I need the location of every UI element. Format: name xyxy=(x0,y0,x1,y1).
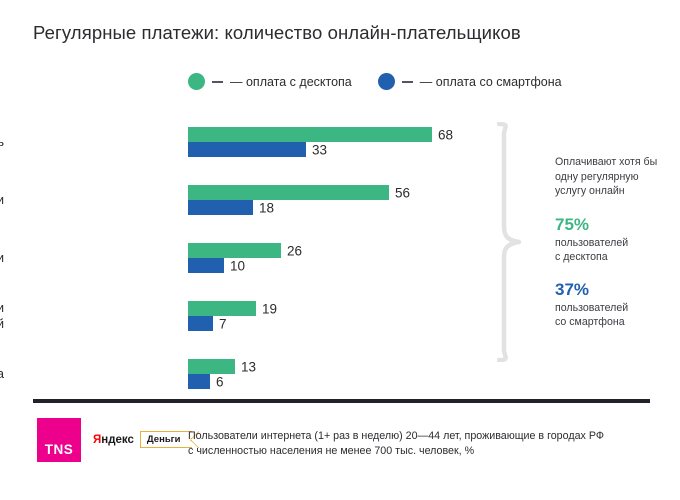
bar-smartphone xyxy=(188,374,210,389)
bar-line-desktop: 56 xyxy=(188,185,389,200)
category-label-line: Транспортная карта xyxy=(0,366,4,382)
chart-legend: — оплата с десктопа — оплата со смартфон… xyxy=(188,73,562,90)
bar-value-desktop: 56 xyxy=(395,185,410,200)
category-label: Услуги учебных заведений xyxy=(0,300,4,332)
dash-icon-desktop xyxy=(212,81,223,83)
bar-group: 56 18 xyxy=(188,185,389,215)
tns-logo-text: TNS xyxy=(37,442,81,457)
bar-value-smartphone: 10 xyxy=(230,258,245,273)
bar-line-smartphone: 7 xyxy=(188,316,256,331)
bar-line-smartphone: 10 xyxy=(188,258,281,273)
category-label-line: Штрафы и налоги xyxy=(0,250,4,266)
sidenote-lead: Оплачивают хотя бы одну регулярную услуг… xyxy=(555,155,667,199)
bar-line-smartphone: 33 xyxy=(188,142,432,157)
bar-line-desktop: 19 xyxy=(188,301,256,316)
stat-value-smartphone: 37% xyxy=(555,280,667,300)
bar-value-smartphone: 18 xyxy=(259,200,274,215)
category-label: Транспортная карта xyxy=(0,366,4,382)
bar-line-smartphone: 6 xyxy=(188,374,235,389)
bar-value-smartphone: 7 xyxy=(219,316,227,331)
bar-desktop xyxy=(188,243,281,258)
bar-line-desktop: 68 xyxy=(188,127,432,142)
bar-value-desktop: 13 xyxy=(241,359,256,374)
category-label: Коммунальные услуги xyxy=(0,192,4,208)
bar-value-smartphone: 6 xyxy=(216,374,224,389)
bar-value-desktop: 68 xyxy=(438,127,453,142)
stat-desc-line: пользователей xyxy=(555,236,667,250)
chart-row: Сотовая связь 68 33 xyxy=(0,118,500,166)
footer-divider xyxy=(33,399,650,403)
dash-icon-smartphone xyxy=(402,81,413,83)
category-label-line: Услуги xyxy=(0,300,4,316)
page-title: Регулярные платежи: количество онлайн-пл… xyxy=(33,22,521,44)
category-label: Сотовая связь xyxy=(0,134,4,150)
category-label-line: Сотовая связь xyxy=(0,134,4,150)
bar-smartphone xyxy=(188,200,253,215)
tns-logo: TNS xyxy=(37,418,81,462)
bar-group: 26 10 xyxy=(188,243,281,273)
legend-label-desktop: — оплата с десктопа xyxy=(230,75,352,89)
yandex-wordmark: Яндекс xyxy=(93,434,134,446)
stat-value-desktop: 75% xyxy=(555,215,667,235)
stat-desc-line: со смартфона xyxy=(555,315,667,329)
dengi-tag-text: Деньги xyxy=(147,434,181,445)
stat-desktop: 75% пользователей с десктопа xyxy=(555,215,667,264)
stat-desc-line: пользователей xyxy=(555,301,667,315)
sidenote-panel: Оплачивают хотя бы одну регулярную услуг… xyxy=(555,155,667,329)
legend-item-desktop: — оплата с десктопа xyxy=(188,73,352,90)
bar-value-smartphone: 33 xyxy=(312,142,327,157)
dengi-tag: Деньги xyxy=(140,431,194,448)
footnote: Пользователи интернета (1+ раз в неделю)… xyxy=(188,429,628,459)
legend-label-smartphone: — оплата со смартфона xyxy=(420,75,562,89)
bar-line-desktop: 13 xyxy=(188,359,235,374)
chart-row: Коммунальные услуги 56 18 xyxy=(0,176,500,224)
stat-desc-smartphone: пользователей со смартфона xyxy=(555,301,667,329)
curly-brace-icon xyxy=(497,122,523,362)
bar-desktop xyxy=(188,359,235,374)
category-label-line: учебных заведений xyxy=(0,316,4,332)
bar-value-desktop: 19 xyxy=(262,301,277,316)
circle-icon-desktop xyxy=(188,73,205,90)
chart-row: Штрафы и налоги 26 10 xyxy=(0,234,500,282)
bar-desktop xyxy=(188,185,389,200)
bar-group: 13 6 xyxy=(188,359,235,389)
stat-desc-line: с десктопа xyxy=(555,250,667,264)
circle-icon-smartphone xyxy=(378,73,395,90)
stat-smartphone: 37% пользователей со смартфона xyxy=(555,280,667,329)
bar-value-desktop: 26 xyxy=(287,243,302,258)
bar-desktop xyxy=(188,127,432,142)
bar-smartphone xyxy=(188,316,213,331)
bar-line-smartphone: 18 xyxy=(188,200,389,215)
chart-row: Услуги учебных заведений 19 7 xyxy=(0,292,500,340)
bar-chart: Сотовая связь 68 33 Коммунальные услуги … xyxy=(0,118,500,398)
bar-group: 19 7 xyxy=(188,301,256,331)
bar-smartphone xyxy=(188,258,224,273)
yandex-word-rest: ндекс xyxy=(101,434,134,446)
footnote-line: Пользователи интернета (1+ раз в неделю)… xyxy=(188,429,628,444)
footnote-line: с численностью населения не менее 700 ты… xyxy=(188,444,628,459)
yandex-dengi-logo: Яндекс Деньги xyxy=(93,431,193,448)
stat-desc-desktop: пользователей с десктопа xyxy=(555,236,667,264)
bar-smartphone xyxy=(188,142,306,157)
bar-group: 68 33 xyxy=(188,127,432,157)
legend-item-smartphone: — оплата со смартфона xyxy=(378,73,562,90)
chart-row: Транспортная карта 13 6 xyxy=(0,350,500,398)
category-label-line: Коммунальные услуги xyxy=(0,192,4,208)
bar-line-desktop: 26 xyxy=(188,243,281,258)
category-label: Штрафы и налоги xyxy=(0,250,4,266)
bar-desktop xyxy=(188,301,256,316)
